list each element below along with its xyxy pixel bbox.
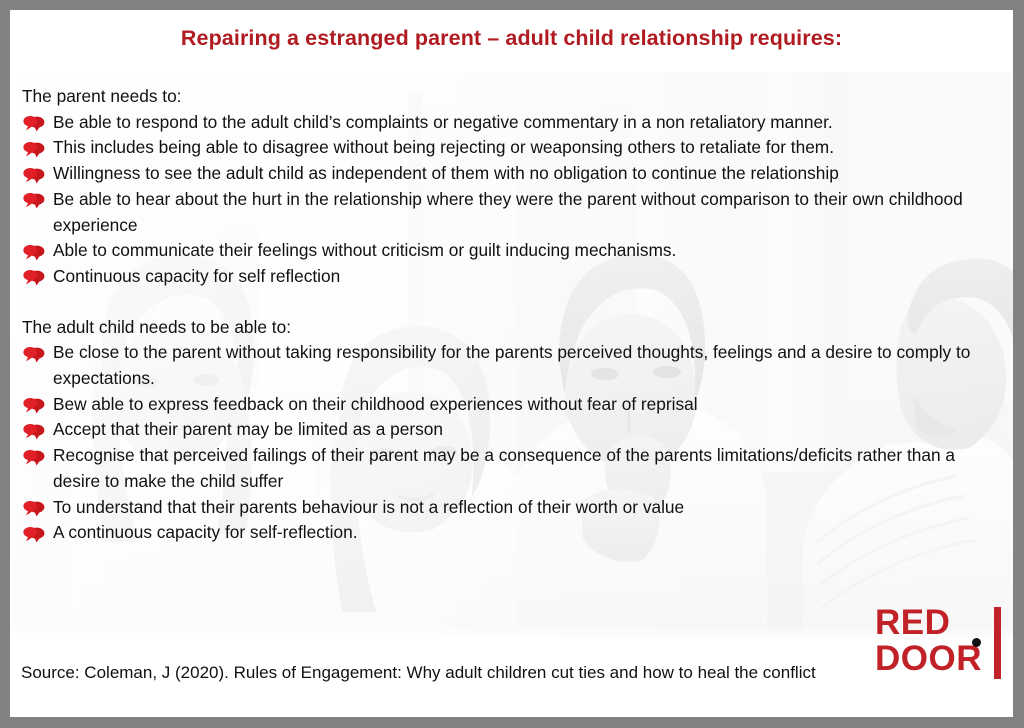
list-item: Recognise that perceived failings of the… <box>20 443 1005 494</box>
speech-bubbles-icon <box>23 192 45 209</box>
speech-bubbles-icon <box>23 269 45 286</box>
list-item: Continuous capacity for self reflection <box>20 264 1005 290</box>
list-item: Able to communicate their feelings witho… <box>20 238 1005 264</box>
parent-section-lead: The parent needs to: <box>22 84 1005 110</box>
list-item-text: A continuous capacity for self-reflectio… <box>53 522 358 542</box>
speech-bubbles-icon <box>23 423 45 440</box>
red-door-logo: RED DOOR <box>875 605 1005 680</box>
list-item: To understand that their parents behavio… <box>20 495 1005 521</box>
speech-bubbles-icon <box>23 449 45 466</box>
list-item: Be able to respond to the adult child’s … <box>20 110 1005 136</box>
speech-bubbles-icon <box>23 167 45 184</box>
adult-child-requirements-list: Be close to the parent without taking re… <box>20 340 1005 546</box>
speech-bubbles-icon <box>23 115 45 132</box>
list-item: Be able to hear about the hurt in the re… <box>20 187 1005 238</box>
speech-bubbles-icon <box>23 500 45 517</box>
logo-wordmark: RED DOOR <box>875 605 982 677</box>
list-item-text: Bew able to express feedback on their ch… <box>53 394 698 414</box>
logo-door-handle-dot <box>972 638 981 647</box>
list-item-text: Continuous capacity for self reflection <box>53 266 340 286</box>
speech-bubbles-icon <box>23 397 45 414</box>
list-item: Bew able to express feedback on their ch… <box>20 392 1005 418</box>
list-item: Be close to the parent without taking re… <box>20 340 1005 391</box>
list-item-text: Willingness to see the adult child as in… <box>53 163 839 183</box>
list-item-text: Recognise that perceived failings of the… <box>53 445 955 491</box>
logo-door-bar <box>994 607 1001 679</box>
list-item: Willingness to see the adult child as in… <box>20 161 1005 187</box>
list-item: This includes being able to disagree wit… <box>20 135 1005 161</box>
logo-line-door: DOOR <box>875 641 982 677</box>
slide-content: The parent needs to: Be able to respond … <box>20 84 1005 546</box>
list-item: Accept that their parent may be limited … <box>20 417 1005 443</box>
slide-page: Repairing a estranged parent – adult chi… <box>10 10 1013 717</box>
list-item-text: Be close to the parent without taking re… <box>53 342 970 388</box>
speech-bubbles-icon <box>23 526 45 543</box>
list-item-text: To understand that their parents behavio… <box>53 497 684 517</box>
list-item-text: Able to communicate their feelings witho… <box>53 240 676 260</box>
list-item: A continuous capacity for self-reflectio… <box>20 520 1005 546</box>
logo-line-red: RED <box>875 605 982 641</box>
speech-bubbles-icon <box>23 244 45 261</box>
source-citation: Source: Coleman, J (2020). Rules of Enga… <box>21 663 816 683</box>
slide-frame: Repairing a estranged parent – adult chi… <box>0 0 1024 728</box>
list-item-text: Be able to hear about the hurt in the re… <box>53 189 963 235</box>
list-item-text: Be able to respond to the adult child’s … <box>53 112 833 132</box>
adult-child-section-lead: The adult child needs to be able to: <box>22 315 1005 341</box>
speech-bubbles-icon <box>23 141 45 158</box>
speech-bubbles-icon <box>23 346 45 363</box>
parent-requirements-list: Be able to respond to the adult child’s … <box>20 110 1005 290</box>
list-item-text: Accept that their parent may be limited … <box>53 419 443 439</box>
page-title: Repairing a estranged parent – adult chi… <box>10 26 1013 51</box>
list-item-text: This includes being able to disagree wit… <box>53 137 834 157</box>
section-spacer <box>20 290 1005 315</box>
